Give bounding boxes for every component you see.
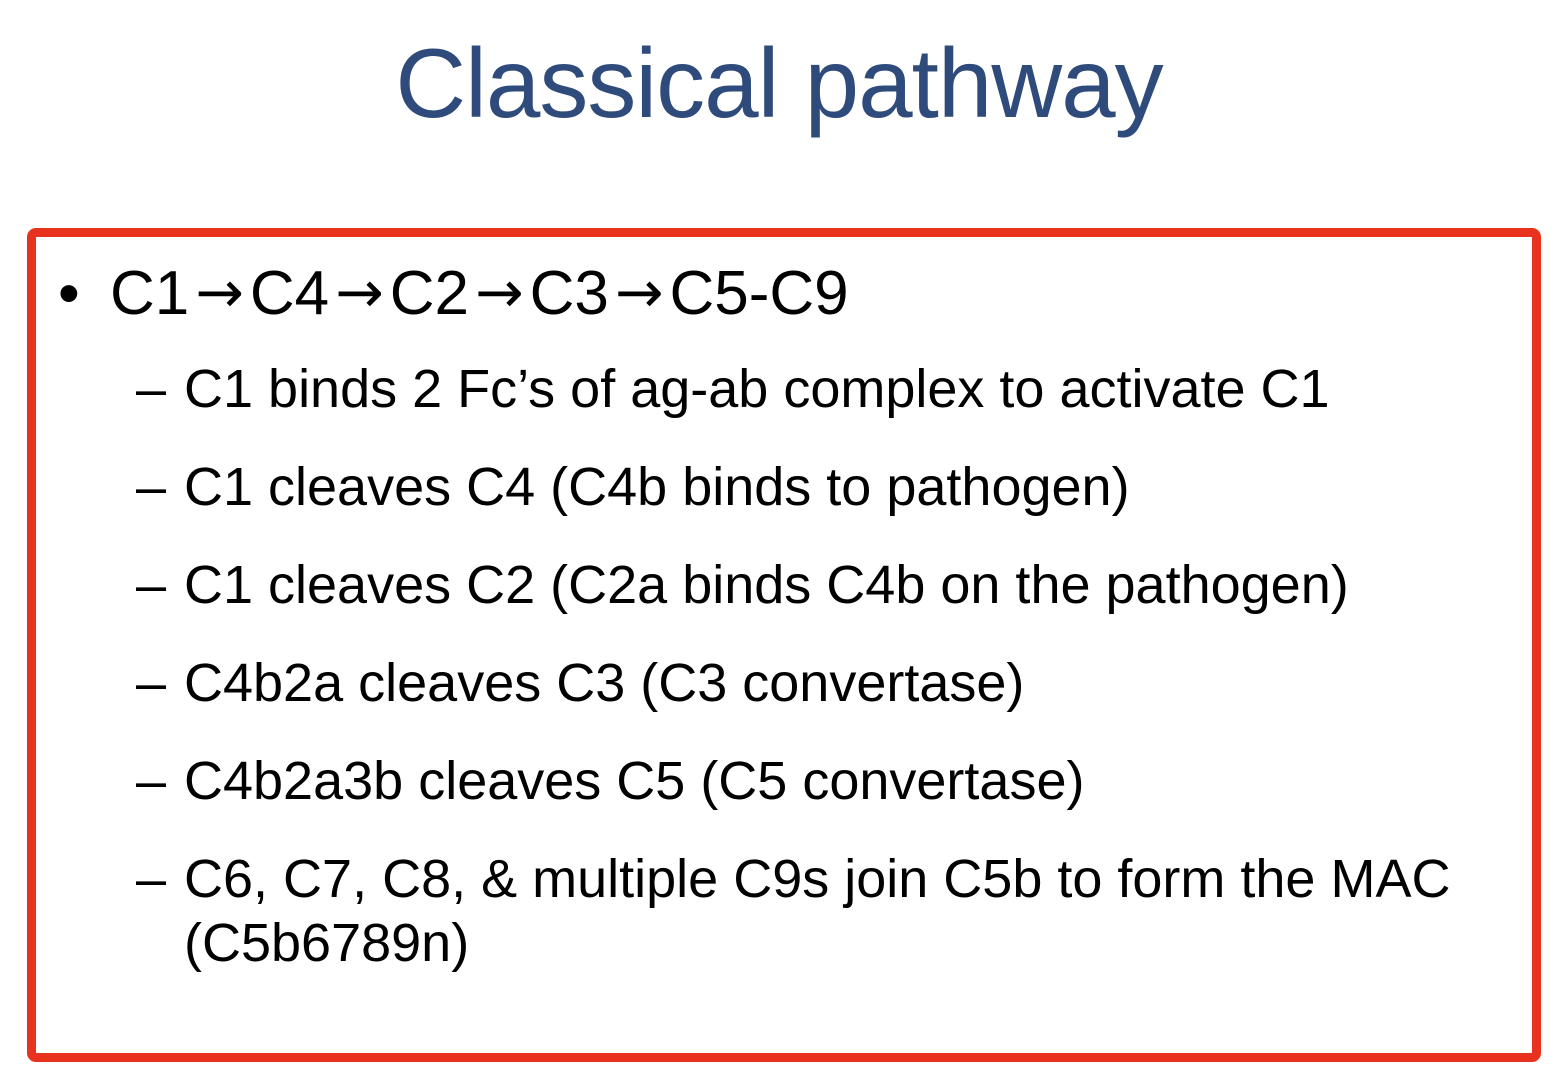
pathway-step-3: C2 (390, 259, 469, 328)
page-title: Classical pathway (0, 32, 1558, 135)
pathway-step-5: C5-C9 (670, 259, 849, 328)
pathway-step-2: C4 (250, 259, 329, 328)
bullet-level2-text: C1 cleaves C2 (C2a binds C4b on the path… (184, 553, 1518, 617)
bullet-level2: – C1 binds 2 Fc’s of ag-ab complex to ac… (36, 357, 1532, 421)
bullet-level2: – C6, C7, C8, & multiple C9s join C5b to… (36, 847, 1532, 975)
dash-marker-icon: – (136, 357, 184, 421)
dash-marker-icon: – (136, 455, 184, 519)
bullet-level2: – C1 cleaves C4 (C4b binds to pathogen) (36, 455, 1532, 519)
arrow-right-icon-4: → (609, 258, 670, 326)
dash-marker-icon: – (136, 553, 184, 617)
pathway-step-1: C1 (110, 259, 189, 328)
bullet-level2: – C4b2a cleaves C3 (C3 convertase) (36, 651, 1532, 715)
bullet-level2-text: C4b2a3b cleaves C5 (C5 convertase) (184, 749, 1518, 813)
dash-marker-icon: – (136, 651, 184, 715)
arrow-right-icon-3: → (469, 258, 530, 326)
bullet-level2-text: C6, C7, C8, & multiple C9s join C5b to f… (184, 847, 1518, 975)
bullet-level1: • C1→C4→C2→C3→C5-C9 (36, 257, 1532, 331)
bullet-level1-text: C1→C4→C2→C3→C5-C9 (110, 257, 1532, 331)
arrow-right-icon-1: → (189, 258, 250, 326)
bullet-level2-text: C4b2a cleaves C3 (C3 convertase) (184, 651, 1518, 715)
arrow-right-icon-2: → (329, 258, 390, 326)
bullet-level2-text: C1 binds 2 Fc’s of ag-ab complex to acti… (184, 357, 1518, 421)
bullet-level2: – C1 cleaves C2 (C2a binds C4b on the pa… (36, 553, 1532, 617)
pathway-step-4: C3 (530, 259, 609, 328)
bullet-level2-text: C1 cleaves C4 (C4b binds to pathogen) (184, 455, 1518, 519)
bullet-list: • C1→C4→C2→C3→C5-C9 – C1 binds 2 Fc’s of… (36, 237, 1532, 975)
bullet-dot-icon: • (58, 257, 110, 331)
dash-marker-icon: – (136, 749, 184, 813)
dash-marker-icon: – (136, 847, 184, 911)
bullet-level2: – C4b2a3b cleaves C5 (C5 convertase) (36, 749, 1532, 813)
content-box: • C1→C4→C2→C3→C5-C9 – C1 binds 2 Fc’s of… (27, 228, 1541, 1062)
